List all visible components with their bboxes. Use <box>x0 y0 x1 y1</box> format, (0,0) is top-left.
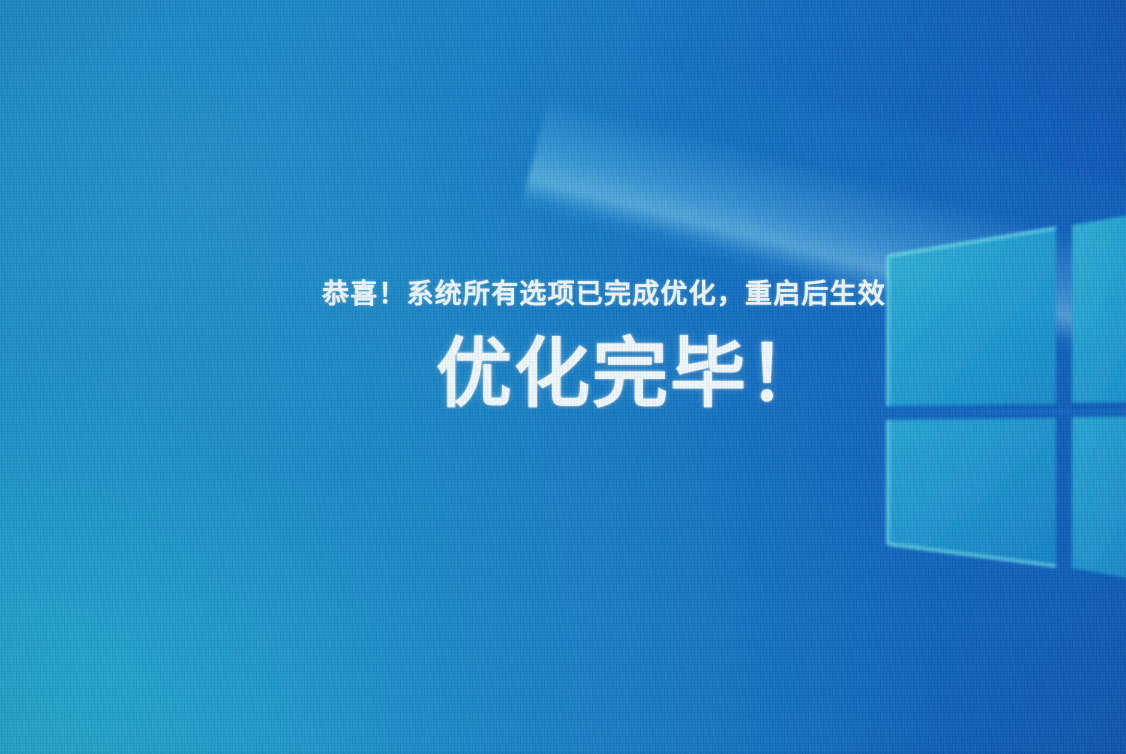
moire-scanline-texture <box>0 0 1126 754</box>
wallpaper-light-sweep <box>520 0 1126 435</box>
bottom-right-pane <box>1072 416 1126 586</box>
optimization-headline: 优化完毕！ <box>0 336 1126 416</box>
moire-diagonal-texture <box>0 0 1126 754</box>
logo-edge-highlight <box>888 228 1056 566</box>
screen-photo: 恭喜！系统所有选项已完成优化，重启后生效 优化完毕！ <box>0 0 1126 754</box>
top-right-pane <box>1072 214 1126 403</box>
wallpaper-dark-wedge <box>560 0 1126 285</box>
optimization-subtitle: 恭喜！系统所有选项已完成优化，重启后生效 <box>0 272 1126 311</box>
top-left-pane <box>888 228 1056 406</box>
logo-horizontal-mullion <box>888 410 1126 413</box>
bottom-left-pane <box>888 418 1056 566</box>
moire-vertical-texture <box>0 0 1126 754</box>
windows-logo-icon <box>872 214 1126 594</box>
message-block: 恭喜！系统所有选项已完成优化，重启后生效 优化完毕！ <box>0 0 1126 754</box>
screen-glare <box>0 0 560 500</box>
photo-vignette <box>0 0 1126 754</box>
